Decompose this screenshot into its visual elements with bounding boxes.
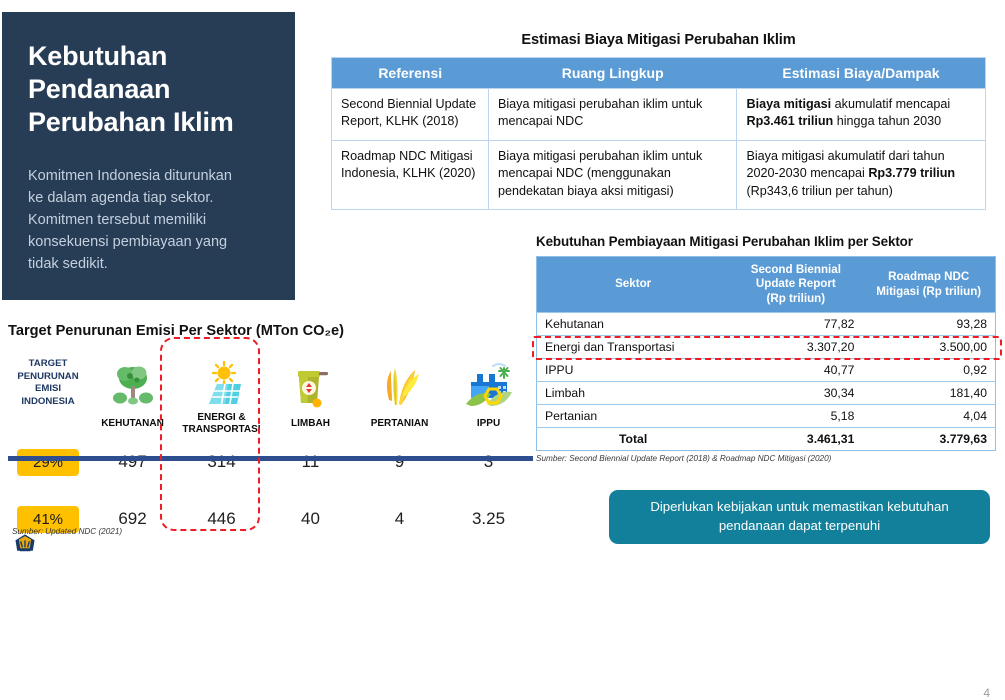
factory-icon xyxy=(463,360,515,410)
sector-table-title: Kebutuhan Pembiayaan Mitigasi Perubahan … xyxy=(536,234,996,249)
estimasi-bold-2: Rp3.461 triliun xyxy=(746,114,833,128)
cell-sektor: IPPU xyxy=(537,359,730,382)
cell-sektor: Pertanian xyxy=(537,405,730,428)
cell-referensi: Second Biennial Update Report, KLHK (201… xyxy=(332,89,489,141)
sector-financing-section: Kebutuhan Pembiayaan Mitigasi Perubahan … xyxy=(536,234,996,463)
sector-name-energi: ENERGI & TRANSPORTASI xyxy=(177,410,266,441)
sector-icon-ippu xyxy=(444,348,533,410)
estimasi-plain-1: akumulatif mencapai xyxy=(831,97,950,111)
cell-roadmap: 4,04 xyxy=(862,405,995,428)
cost-table-title: Estimasi Biaya Mitigasi Perubahan Iklim xyxy=(331,32,986,48)
table-row: Kehutanan 77,82 93,28 xyxy=(537,313,996,336)
scenario-row-29: 29% 497 314 11 9 3 xyxy=(8,441,533,484)
cell-ruang-lingkup: Biaya mitigasi perubahan iklim untuk men… xyxy=(488,89,737,141)
cell-sektor: Energi dan Transportasi xyxy=(537,336,730,359)
cell-roadmap: 3.500,00 xyxy=(862,336,995,359)
cell-total-sbur: 3.461,31 xyxy=(729,428,862,451)
estimasi-plain-2: hingga tahun 2030 xyxy=(833,114,941,128)
sector-table-source: Sumber: Second Biennial Update Report (2… xyxy=(536,454,996,463)
cost-estimate-section: Estimasi Biaya Mitigasi Perubahan Iklim … xyxy=(331,32,986,210)
estimasi-bold-2: Rp3.779 triliun xyxy=(868,166,955,180)
cost-estimate-table: Referensi Ruang Lingkup Estimasi Biaya/D… xyxy=(331,57,986,210)
value-29-limbah: 11 xyxy=(266,441,355,484)
sector-icon-energi xyxy=(177,348,266,410)
cell-roadmap: 181,40 xyxy=(862,382,995,405)
sector-name-pertanian: PERTANIAN xyxy=(355,410,444,441)
badge-cell-29: 29% xyxy=(8,441,88,484)
col-header-referensi: Referensi xyxy=(332,58,489,89)
value-41-ippu: 3.25 xyxy=(444,498,533,541)
national-emblem-icon xyxy=(12,530,38,556)
table-row: Limbah 30,34 181,40 xyxy=(537,382,996,405)
table-header-row: Referensi Ruang Lingkup Estimasi Biaya/D… xyxy=(332,58,986,89)
cell-roadmap: 0,92 xyxy=(862,359,995,382)
divider-row xyxy=(8,484,533,498)
left-intro-panel: Kebutuhan Pendanaan Perubahan Iklim Komi… xyxy=(2,12,295,300)
col-header-ruang-lingkup: Ruang Lingkup xyxy=(488,58,737,89)
sector-name-row: KEHUTANAN ENERGI & TRANSPORTASI LIMBAH P… xyxy=(8,410,533,441)
solar-panel-icon xyxy=(197,360,247,410)
sector-icon-limbah xyxy=(266,348,355,410)
table-row-highlighted: Energi dan Transportasi 3.307,20 3.500,0… xyxy=(537,336,996,359)
sector-name-limbah: LIMBAH xyxy=(266,410,355,441)
cell-roadmap: 93,28 xyxy=(862,313,995,336)
page-title: Kebutuhan Pendanaan Perubahan Iklim xyxy=(28,40,269,139)
table-row: IPPU 40,77 0,92 xyxy=(537,359,996,382)
cell-sbur: 3.307,20 xyxy=(729,336,862,359)
wheat-icon xyxy=(375,360,425,410)
cell-referensi: Roadmap NDC Mitigasi Indonesia, KLHK (20… xyxy=(332,140,489,209)
emission-target-section: Target Penurunan Emisi Per Sektor (MTon … xyxy=(0,318,540,559)
col-header-roadmap: Roadmap NDC Mitigasi (Rp triliun) xyxy=(862,257,995,313)
value-41-energi: 446 xyxy=(177,498,266,541)
value-29-energi: 314 xyxy=(177,441,266,484)
cell-total-label: Total xyxy=(537,428,730,451)
sector-financing-table: Sektor Second Biennial Update Report (Rp… xyxy=(536,256,996,451)
tree-icon xyxy=(108,360,158,410)
value-29-kehutanan: 497 xyxy=(88,441,177,484)
cell-sbur: 30,34 xyxy=(729,382,862,405)
estimasi-plain-2: (Rp343,6 triliun per tahun) xyxy=(746,184,892,198)
cell-total-roadmap: 3.779,63 xyxy=(862,428,995,451)
status-badge-29: 29% xyxy=(17,449,79,476)
emission-target-grid: TARGET PENURUNAN EMISI INDONESIA xyxy=(8,348,533,541)
cell-sektor: Kehutanan xyxy=(537,313,730,336)
cell-sbur: 5,18 xyxy=(729,405,862,428)
callout-text: Diperlukan kebijakan untuk memastikan ke… xyxy=(631,498,968,535)
cell-sbur: 40,77 xyxy=(729,359,862,382)
emission-target-title: Target Penurunan Emisi Per Sektor (MTon … xyxy=(8,323,344,339)
col-header-sbur: Second Biennial Update Report (Rp triliu… xyxy=(729,257,862,313)
trash-bin-icon xyxy=(286,360,336,410)
value-41-limbah: 40 xyxy=(266,498,355,541)
sector-icon-kehutanan xyxy=(88,348,177,410)
table-header-row: Sektor Second Biennial Update Report (Rp… xyxy=(537,257,996,313)
table-row: Second Biennial Update Report, KLHK (201… xyxy=(332,89,986,141)
table-row: Pertanian 5,18 4,04 xyxy=(537,405,996,428)
policy-callout-banner: Diperlukan kebijakan untuk memastikan ke… xyxy=(609,490,990,544)
sector-name-kehutanan: KEHUTANAN xyxy=(88,410,177,441)
sector-icon-row: TARGET PENURUNAN EMISI INDONESIA xyxy=(8,348,533,410)
cell-sbur: 77,82 xyxy=(729,313,862,336)
table-row: Roadmap NDC Mitigasi Indonesia, KLHK (20… xyxy=(332,140,986,209)
target-label: TARGET PENURUNAN EMISI INDONESIA xyxy=(8,348,88,410)
scenario-divider-line xyxy=(8,456,533,461)
value-41-pertanian: 4 xyxy=(355,498,444,541)
cell-estimasi: Biaya mitigasi akumulatif dari tahun 202… xyxy=(737,140,986,209)
sector-icon-pertanian xyxy=(355,348,444,410)
cell-estimasi: Biaya mitigasi akumulatif mencapai Rp3.4… xyxy=(737,89,986,141)
col-header-sektor: Sektor xyxy=(537,257,730,313)
page-number: 4 xyxy=(983,686,990,700)
value-29-ippu: 3 xyxy=(444,441,533,484)
intro-paragraph: Komitmen Indonesia diturunkan ke dalam a… xyxy=(28,165,269,275)
table-total-row: Total 3.461,31 3.779,63 xyxy=(537,428,996,451)
value-29-pertanian: 9 xyxy=(355,441,444,484)
estimasi-bold-1: Biaya mitigasi xyxy=(746,97,831,111)
cell-ruang-lingkup: Biaya mitigasi perubahan iklim untuk men… xyxy=(488,140,737,209)
cell-sektor: Limbah xyxy=(537,382,730,405)
sector-name-ippu: IPPU xyxy=(444,410,533,441)
col-header-estimasi: Estimasi Biaya/Dampak xyxy=(737,58,986,89)
